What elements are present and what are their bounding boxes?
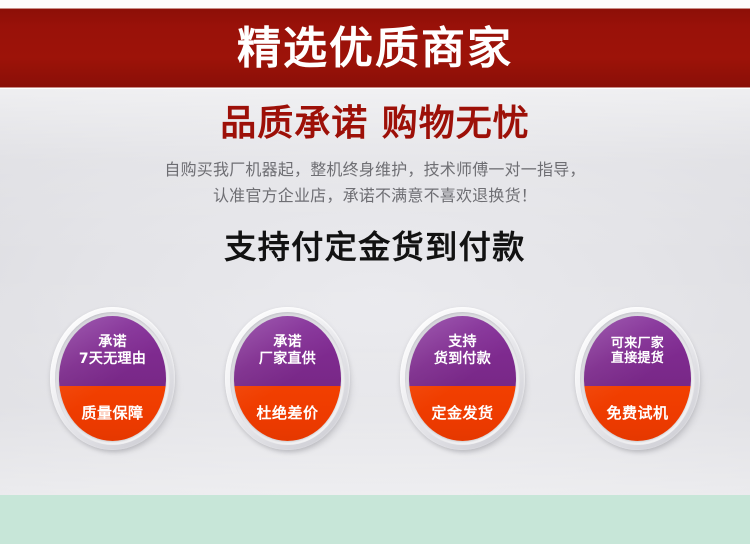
promo-banner-page: 精选优质商家 品质承诺 购物无忧 自购买我厂机器起，整机终身维护，技术师傅一对一… [0,0,750,544]
promo-subheading: 支持付定金货到付款 [0,231,750,263]
promo-copy-block: 品质承诺 购物无忧 自购买我厂机器起，整机终身维护，技术师傅一对一指导， 认准官… [0,106,750,209]
badge-bottom-half: 杜绝差价 [234,386,341,441]
badge-bottom-half: 定金发货 [409,386,516,441]
badge-top-line-1: 承诺 [273,334,302,351]
badge-face: 支持 货到付款 定金发货 [409,316,516,441]
badge-top-line-1: 承诺 [98,334,127,351]
badge-bottom-line: 杜绝差价 [256,405,318,423]
badge-top-line-1: 可来厂家 [611,336,664,351]
badge-bottom-line: 质量保障 [81,405,143,423]
promo-body-line-2: 认准官方企业店，承诺不满意不喜欢退换货！ [0,183,750,209]
badge-top-line-1: 支持 [448,334,477,351]
badge-face: 承诺 厂家直供 杜绝差价 [234,316,341,441]
header-title: 精选优质商家 [237,27,513,71]
promo-body-line-1: 自购买我厂机器起，整机终身维护，技术师傅一对一指导， [0,157,750,183]
badge-face: 承诺 7天无理由 质量保障 [59,316,166,441]
guarantee-badge: 支持 货到付款 定金发货 [400,299,525,459]
header-banner: 精选优质商家 [0,8,750,88]
promo-body-text: 自购买我厂机器起，整机终身维护，技术师傅一对一指导， 认准官方企业店，承诺不满意… [0,157,750,209]
promo-headline: 品质承诺 购物无忧 [0,106,750,142]
badge-top-half: 可来厂家 直接提货 [584,316,691,386]
guarantee-badge-row: 承诺 7天无理由 质量保障 承诺 厂家直供 [0,299,750,484]
body-area: 品质承诺 购物无忧 自购买我厂机器起，整机终身维护，技术师傅一对一指导， 认准官… [0,89,750,495]
footer-mint-band [0,495,750,544]
badge-top-half: 承诺 厂家直供 [234,316,341,386]
guarantee-badge: 可来厂家 直接提货 免费试机 [575,299,700,459]
badge-top-line-2: 7天无理由 [79,351,146,368]
badge-bottom-line: 定金发货 [431,405,493,423]
badge-top-half: 支持 货到付款 [409,316,516,386]
badge-top-half: 承诺 7天无理由 [59,316,166,386]
badge-bottom-half: 免费试机 [584,386,691,441]
guarantee-badge: 承诺 7天无理由 质量保障 [50,299,175,459]
badge-bottom-half: 质量保障 [59,386,166,441]
badge-top-line-2: 直接提货 [611,351,664,366]
badge-face: 可来厂家 直接提货 免费试机 [584,316,691,441]
top-white-strip [0,0,750,8]
guarantee-badge: 承诺 厂家直供 杜绝差价 [225,299,350,459]
badge-top-line-2: 厂家直供 [259,351,316,368]
badge-bottom-line: 免费试机 [606,405,668,423]
badge-top-line-2: 货到付款 [434,351,491,368]
